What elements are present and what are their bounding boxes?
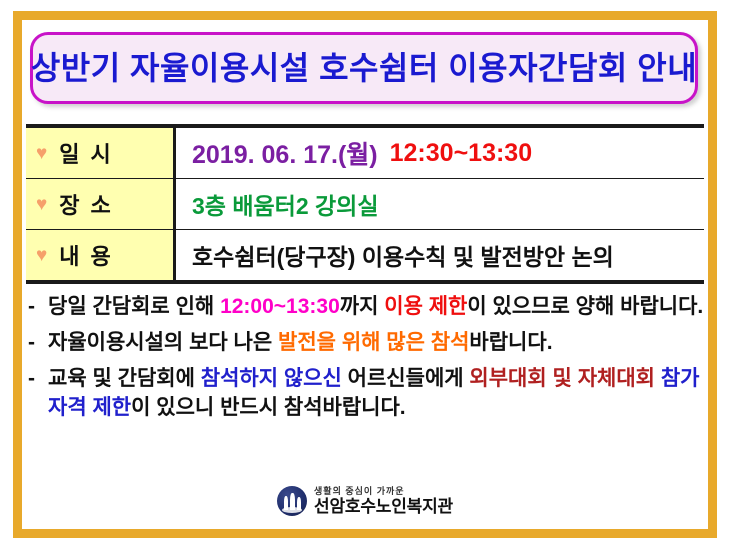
info-label-content: ♥ 내용 xyxy=(26,230,176,280)
note-segment: 12:00~13:30 xyxy=(220,295,340,318)
note-segment: 자율이용시설의 보다 나은 xyxy=(48,331,278,354)
event-content: 호수쉼터(당구장) 이용수칙 및 발전방안 논의 xyxy=(192,238,614,272)
note-dash: - xyxy=(28,292,48,322)
heart-icon: ♥ xyxy=(36,144,47,163)
info-label-datetime: ♥ 일시 xyxy=(26,128,176,178)
note-segment: 이 있으니 반드시 참석바랍니다. xyxy=(131,396,406,419)
info-label-text: 일시 xyxy=(55,137,121,169)
welfare-center-logo-icon xyxy=(277,486,307,516)
table-row: ♥ 장소 3층 배움터2 강의실 xyxy=(26,179,704,230)
info-value-datetime: 2019. 06. 17.(월) 12:30~13:30 xyxy=(176,128,704,178)
note-dash: - xyxy=(28,328,48,358)
note-segment: 교육 및 간담회에 xyxy=(48,367,201,390)
event-info-table: ♥ 일시 2019. 06. 17.(월) 12:30~13:30 ♥ 장소 3… xyxy=(26,124,704,284)
poster-content: 상반기 자율이용시설 호수쉼터 이용자간담회 안내 ♥ 일시 2019. 06.… xyxy=(22,20,708,529)
logo-tagline: 생활의 중심이 가까운 xyxy=(314,487,453,496)
table-row: ♥ 내용 호수쉼터(당구장) 이용수칙 및 발전방안 논의 xyxy=(26,230,704,280)
note-segment: 이 있으므로 양해 바랍니다. xyxy=(467,295,703,318)
note-segment: 이용 제한 xyxy=(384,295,467,318)
event-date: 2019. 06. 17.(월) xyxy=(192,135,378,171)
info-label-text: 장소 xyxy=(55,188,121,220)
logo-text-group: 생활의 중심이 가까운 선암호수노인복지관 xyxy=(314,487,453,515)
note-segment: 발전을 위해 많은 참석 xyxy=(278,331,469,354)
announcement-poster: 상반기 자율이용시설 호수쉼터 이용자간담회 안내 ♥ 일시 2019. 06.… xyxy=(0,0,730,551)
page-title: 상반기 자율이용시설 호수쉼터 이용자간담회 안내 xyxy=(31,52,697,84)
note-text: 당일 간담회로 인해 12:00~13:30까지 이용 제한이 있으므로 양해 … xyxy=(48,292,706,322)
list-item: - 교육 및 간담회에 참석하지 않으신 어르신들에게 외부대회 및 자체대회 … xyxy=(28,364,706,424)
note-segment: 외부대회 및 자체대회 xyxy=(469,367,655,390)
event-time: 12:30~13:30 xyxy=(390,139,532,168)
poster-title-banner: 상반기 자율이용시설 호수쉼터 이용자간담회 안내 xyxy=(30,32,698,104)
heart-icon: ♥ xyxy=(36,195,47,214)
note-segment: 까지 xyxy=(340,295,384,318)
footer-logo: 생활의 중심이 가까운 선암호수노인복지관 xyxy=(22,486,708,516)
table-row: ♥ 일시 2019. 06. 17.(월) 12:30~13:30 xyxy=(26,128,704,179)
event-place: 3층 배움터2 강의실 xyxy=(192,187,378,221)
note-segment: 당일 간담회로 인해 xyxy=(48,295,220,318)
info-value-content: 호수쉼터(당구장) 이용수칙 및 발전방안 논의 xyxy=(176,230,704,280)
note-segment: 어르신들에게 xyxy=(342,367,470,390)
note-text: 자율이용시설의 보다 나은 발전을 위해 많은 참석바랍니다. xyxy=(48,328,706,358)
heart-icon: ♥ xyxy=(36,246,47,265)
info-label-place: ♥ 장소 xyxy=(26,179,176,229)
note-dash: - xyxy=(28,364,48,394)
list-item: - 당일 간담회로 인해 12:00~13:30까지 이용 제한이 있으므로 양… xyxy=(28,292,706,322)
info-value-place: 3층 배움터2 강의실 xyxy=(176,179,704,229)
note-segment: 바랍니다. xyxy=(469,331,552,354)
note-segment: 참석하지 않으신 xyxy=(201,367,342,390)
info-label-text: 내용 xyxy=(55,239,121,271)
note-text: 교육 및 간담회에 참석하지 않으신 어르신들에게 외부대회 및 자체대회 참가… xyxy=(48,364,706,424)
list-item: - 자율이용시설의 보다 나은 발전을 위해 많은 참석바랍니다. xyxy=(28,328,706,358)
organization-name: 선암호수노인복지관 xyxy=(314,498,453,515)
notice-list: - 당일 간담회로 인해 12:00~13:30까지 이용 제한이 있으므로 양… xyxy=(28,292,706,429)
